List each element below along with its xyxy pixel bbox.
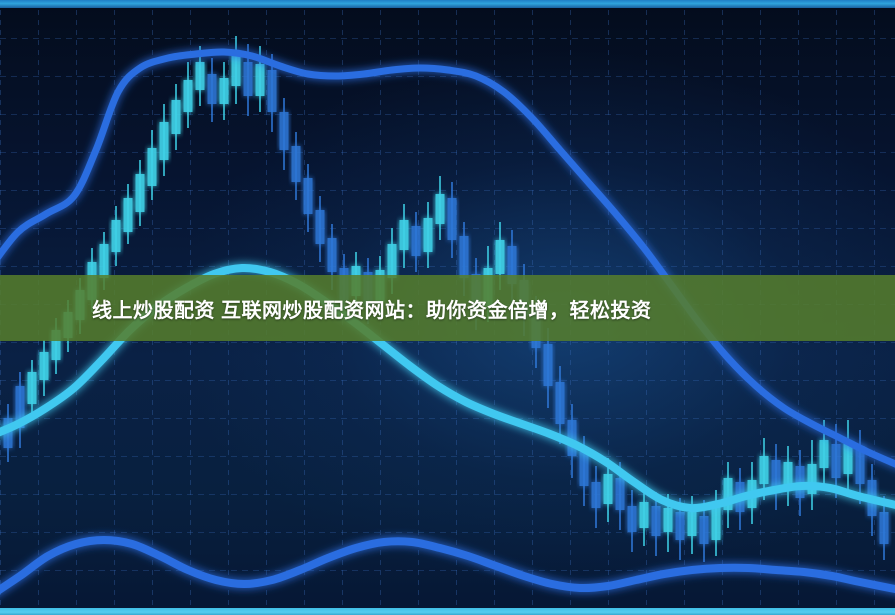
bottom-edge-bar (0, 608, 895, 615)
stock-chart-banner: 线上炒股配资 互联网炒股配资网站：助你资金倍增，轻松投资 (0, 0, 895, 615)
top-edge-bar (0, 0, 895, 8)
band-upper-band (0, 52, 895, 466)
banner-headline: 线上炒股配资 互联网炒股配资网站：助你资金倍增，轻松投资 (92, 294, 652, 323)
caption-band: 线上炒股配资 互联网炒股配资网站：助你资金倍增，轻松投资 (0, 275, 895, 341)
band-lower-band (0, 540, 895, 596)
